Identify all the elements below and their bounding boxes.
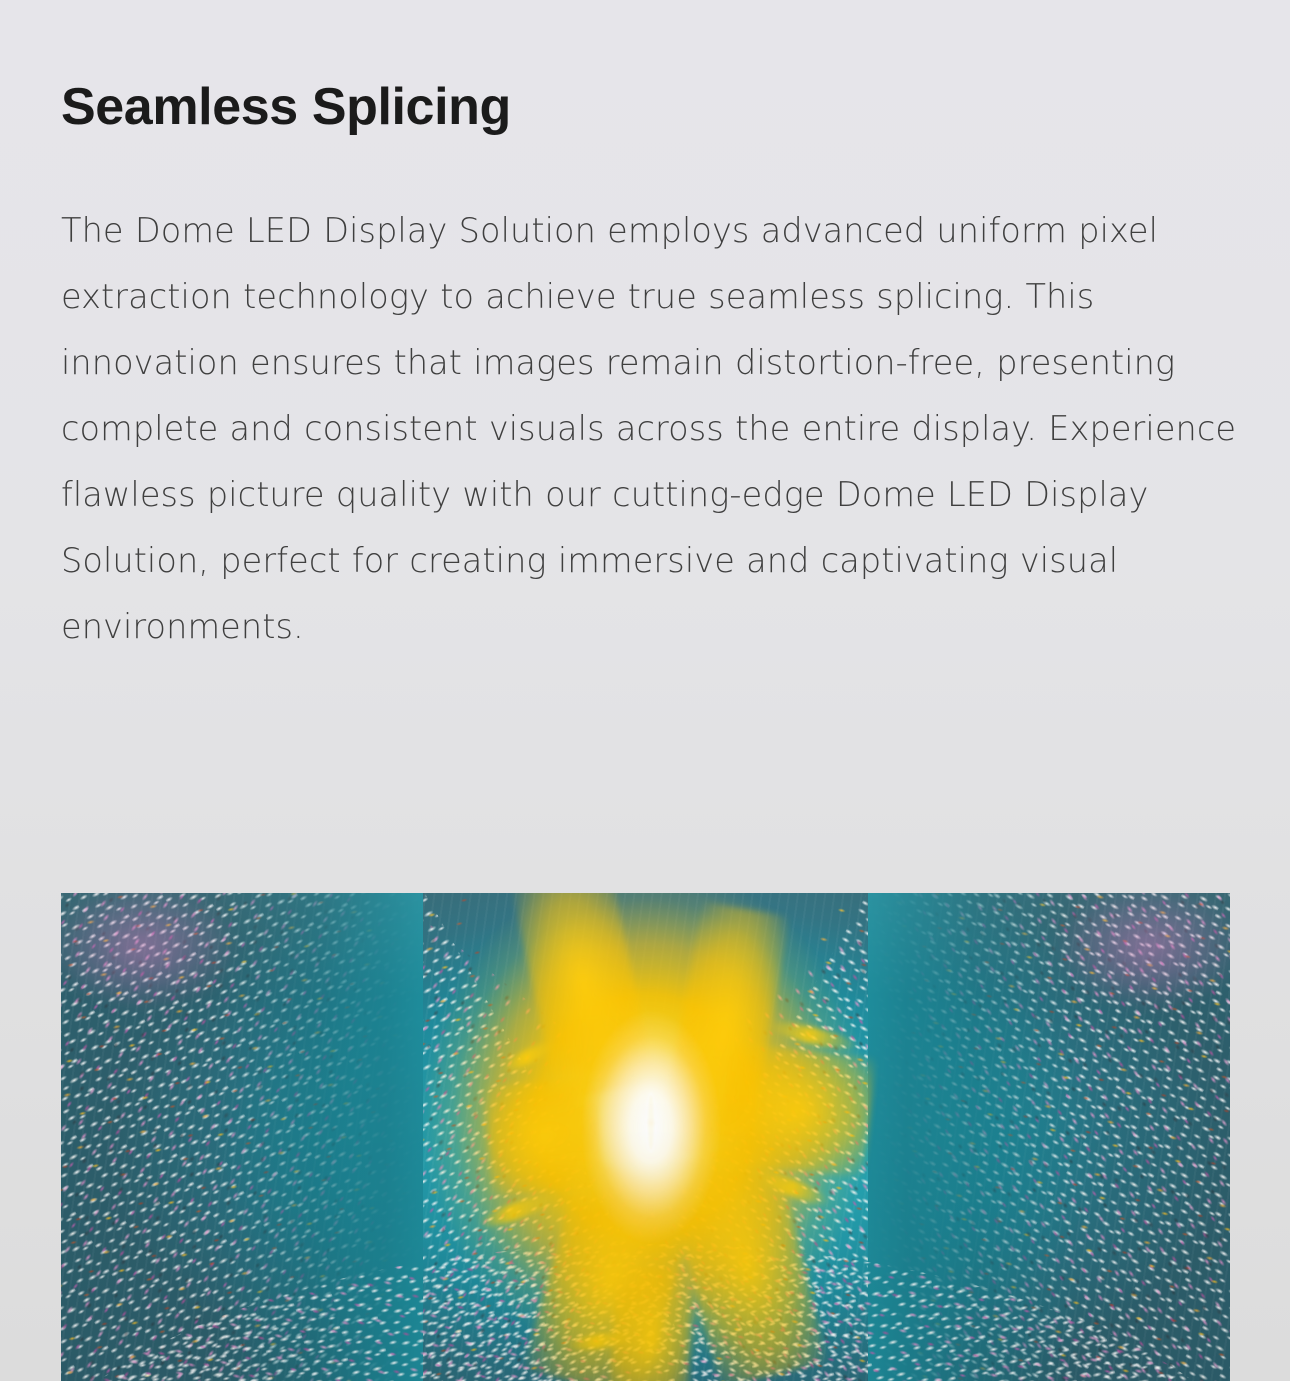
gold-wisp	[477, 1190, 556, 1232]
text-content-block: Seamless Splicing The Dome LED Display S…	[61, 78, 1246, 660]
page-title: Seamless Splicing	[61, 78, 1246, 136]
gold-tendril	[608, 1266, 694, 1381]
product-image	[61, 893, 1230, 1381]
right-corner-glow	[1055, 893, 1230, 1010]
glowing-core	[581, 1010, 721, 1244]
page-container: Seamless Splicing The Dome LED Display S…	[0, 0, 1290, 1381]
left-corner-glow	[61, 893, 236, 1010]
led-display-scene	[61, 893, 1230, 1381]
gold-tendril	[718, 1042, 876, 1177]
section-description: The Dome LED Display Solution employs ad…	[61, 198, 1243, 660]
